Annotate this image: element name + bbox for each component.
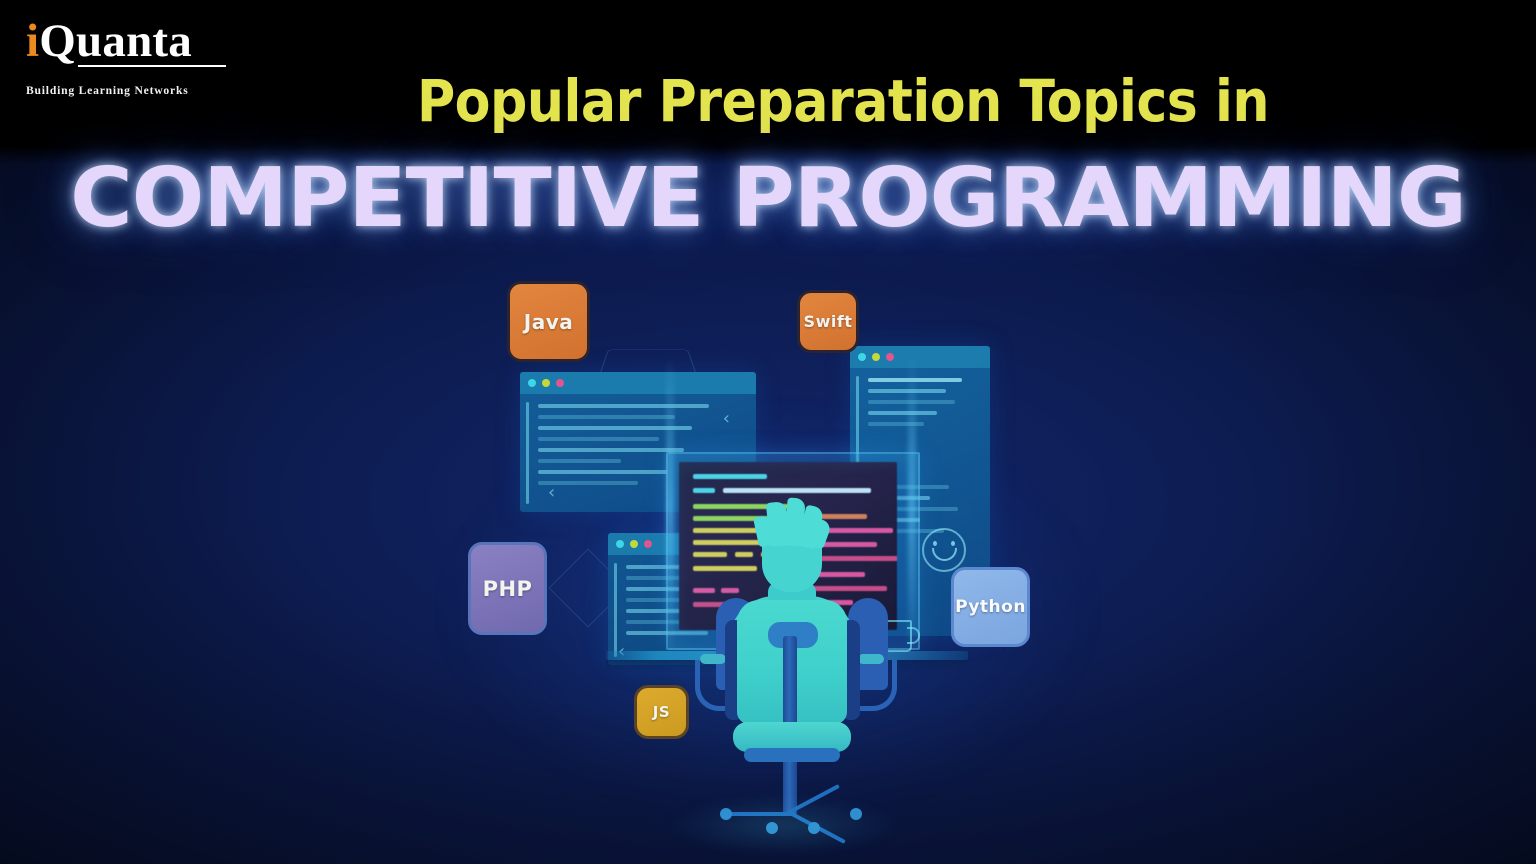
smiley-mouth-icon — [932, 548, 957, 561]
language-badge-php[interactable]: PHP — [468, 542, 547, 635]
window-gutter — [614, 563, 617, 657]
code-line — [868, 411, 937, 415]
headline-line-2: COMPETITIVE PROGRAMMING — [0, 158, 1536, 240]
language-badge-python[interactable]: Python — [951, 567, 1030, 647]
window-dot-cyan-icon — [858, 353, 866, 361]
language-badge-swift[interactable]: Swift — [797, 290, 859, 353]
brand-name-rest: Quanta — [39, 15, 192, 67]
poster-canvas: ‹ ‹ ‹ — [0, 0, 1536, 864]
bracket-left-icon: ‹ — [723, 410, 730, 428]
headline-line-1: Popular Preparation Topics in — [0, 72, 1536, 130]
brand-rule — [78, 65, 226, 67]
language-badge-java[interactable]: Java — [507, 281, 590, 362]
window-titlebar — [850, 346, 990, 368]
smiley-face-icon — [922, 528, 966, 572]
floor-glow — [634, 786, 934, 864]
chair-armpad-left — [700, 654, 726, 664]
bracket-left-icon: ‹ — [548, 484, 555, 502]
code-line — [538, 404, 709, 408]
window-dot-cyan-icon — [616, 540, 624, 548]
code-line — [538, 415, 675, 419]
brand-tagline: Building Learning Networks — [26, 85, 192, 97]
language-badge-js[interactable]: JS — [634, 685, 689, 739]
brand-name-accent: i — [26, 15, 39, 67]
window-dot-pink-icon — [644, 540, 652, 548]
smiley-eye-left-icon — [933, 541, 937, 546]
window-dot-green-icon — [542, 379, 550, 387]
window-dot-green-icon — [872, 353, 880, 361]
window-gutter — [526, 402, 529, 504]
chair-armpad-right — [858, 654, 884, 664]
window-dot-cyan-icon — [528, 379, 536, 387]
brand-logo[interactable]: iQuanta Building Learning Networks — [26, 18, 192, 97]
window-dot-green-icon — [630, 540, 638, 548]
brand-name: iQuanta — [26, 18, 192, 65]
window-dot-pink-icon — [886, 353, 894, 361]
coffee-mug-icon — [884, 620, 912, 652]
chair-seat-base — [744, 748, 840, 762]
brand-tagline-wrap: Building Learning Networks — [26, 64, 192, 97]
window-dot-pink-icon — [556, 379, 564, 387]
smiley-eye-right-icon — [951, 541, 955, 546]
code-line — [538, 448, 684, 452]
code-line — [538, 459, 621, 463]
code-line — [538, 437, 659, 441]
person-hair — [756, 498, 828, 550]
window-titlebar — [520, 372, 756, 394]
code-line — [538, 470, 667, 474]
